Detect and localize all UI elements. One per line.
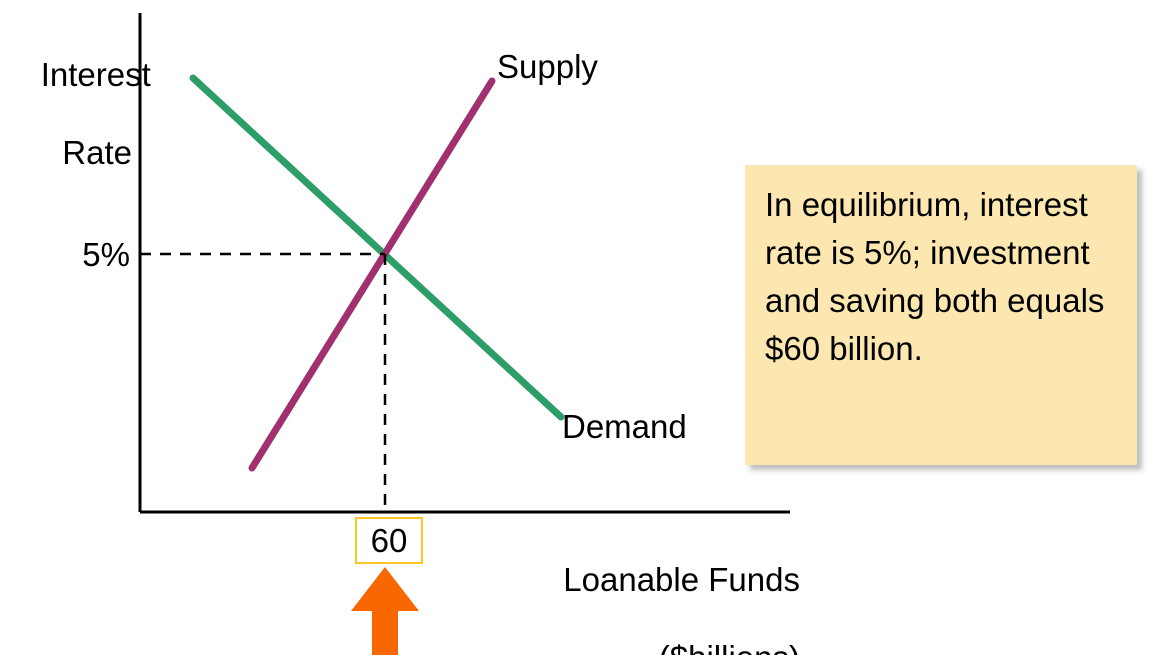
equilibrium-callout-note: In equilibrium, interest rate is 5%; inv… [745, 165, 1137, 465]
supply-curve [252, 81, 492, 468]
demand-curve [193, 78, 561, 417]
loanable-funds-diagram-slide: Interest Rate 5% Supply Demand Loanable … [0, 0, 1151, 655]
highlight-arrow-icon [351, 567, 419, 655]
demand-curve-label: Demand [562, 408, 687, 446]
x-axis-title-line2: ($billions) [455, 638, 800, 655]
equilibrium-callout-text: In equilibrium, interest rate is 5%; inv… [765, 181, 1119, 373]
x-axis-title-line1: Loanable Funds [563, 561, 800, 598]
equilibrium-quantity-value: 60 [371, 524, 408, 557]
x-axis-title: Loanable Funds ($billions) [455, 521, 800, 655]
equilibrium-quantity-highlight-box: 60 [355, 517, 423, 564]
supply-curve-label: Supply [497, 48, 598, 86]
